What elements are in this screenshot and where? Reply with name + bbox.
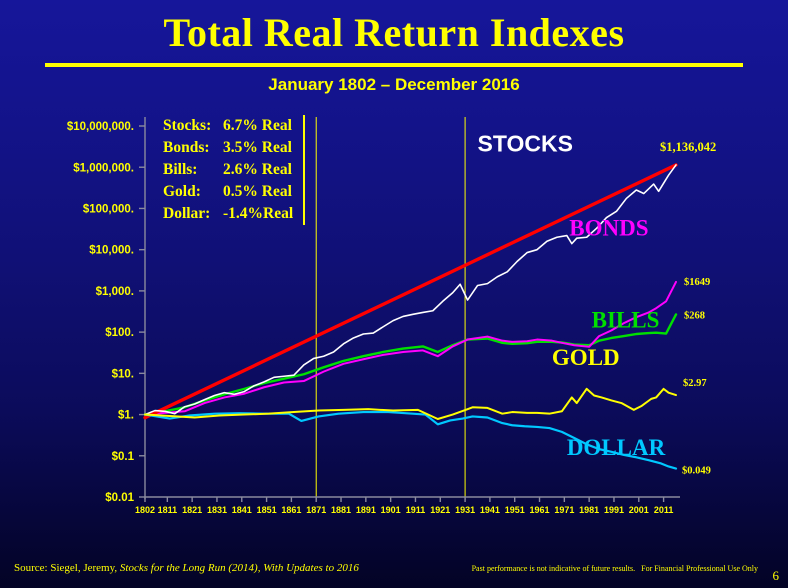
stats-row-label: Bonds:: [163, 137, 223, 159]
x-axis-tick-label: 1891: [356, 505, 376, 515]
x-axis-tick-label: 1931: [455, 505, 475, 515]
x-axis-tick-label: 1911: [406, 505, 426, 515]
y-axis-label: $0.01: [105, 492, 134, 504]
stats-legend-box: Stocks:6.7% RealBonds:3.5% RealBills:2.6…: [163, 115, 305, 225]
stats-row-value: -1.4%Real: [223, 203, 293, 225]
stats-row: Bills:2.6% Real: [163, 159, 293, 181]
endpoint-label-bills: $268: [684, 310, 705, 321]
source-prefix: Source: Siegel, Jeremy,: [14, 562, 120, 574]
x-axis-tick-label: 1841: [232, 505, 252, 515]
stats-row-label: Gold:: [163, 181, 223, 203]
stats-row-value: 6.7% Real: [223, 115, 292, 137]
x-axis-tick-label: 1802: [135, 505, 155, 515]
series-annotation-dollar: DOLLAR: [567, 435, 666, 460]
x-axis-tick-label: 1881: [331, 505, 351, 515]
y-axis-label: $10.: [112, 368, 134, 380]
x-axis-tick-label: 1951: [505, 505, 525, 515]
stats-row-label: Dollar:: [163, 203, 223, 225]
y-axis-label: $100.: [105, 327, 134, 339]
x-axis-tick-label: 1991: [604, 505, 624, 515]
y-axis-label: $0.1: [112, 451, 135, 463]
stats-row-value: 0.5% Real: [223, 181, 292, 203]
endpoint-label-dollar: $0.049: [682, 466, 711, 477]
x-axis-tick-label: 1821: [182, 505, 202, 515]
y-axis-label: $10,000.: [89, 245, 134, 257]
stats-row: Dollar:-1.4%Real: [163, 203, 293, 225]
endpoint-label-gold: $2.97: [683, 378, 707, 389]
x-axis-tick-label: 1861: [281, 505, 301, 515]
x-axis-tick-label: 2001: [629, 505, 649, 515]
x-axis-tick-label: 1961: [530, 505, 550, 515]
x-axis-tick-label: 1851: [257, 505, 277, 515]
series-annotation-bonds: BONDS: [569, 216, 648, 241]
stats-row-label: Stocks:: [163, 115, 223, 137]
y-axis-label: $1,000,000.: [73, 162, 134, 174]
endpoint-label-stocks: $1,136,042: [660, 140, 716, 154]
stats-row: Stocks:6.7% Real: [163, 115, 293, 137]
source-citation: Source: Siegel, Jeremy, Stocks for the L…: [14, 562, 359, 574]
y-axis-label: $100,000.: [83, 203, 134, 215]
series-annotation-bills: BILLS: [592, 307, 660, 332]
y-axis-label: $10,000,000.: [67, 121, 134, 133]
stats-row: Bonds:3.5% Real: [163, 137, 293, 159]
stats-row-value: 2.6% Real: [223, 159, 292, 181]
page-number: 6: [773, 568, 780, 584]
series-annotation-stocks: STOCKS: [477, 131, 572, 157]
x-axis-tick-label: 1871: [306, 505, 326, 515]
x-axis-tick-label: 1921: [430, 505, 450, 515]
endpoint-label-bonds: $1649: [684, 277, 710, 288]
disclaimer-text: Past performance is not indicative of fu…: [472, 564, 758, 573]
x-axis-tick-label: 1971: [554, 505, 574, 515]
x-axis-tick-label: 1901: [381, 505, 401, 515]
slide-canvas: Total Real Return Indexes January 1802 –…: [0, 0, 788, 588]
x-axis-tick-label: 1811: [158, 505, 178, 515]
y-axis-label: $1.: [118, 410, 134, 422]
y-axis-label: $1,000.: [96, 286, 134, 298]
x-axis-tick-label: 1981: [579, 505, 599, 515]
stats-row-value: 3.5% Real: [223, 137, 292, 159]
stats-row: Gold:0.5% Real: [163, 181, 293, 203]
stats-row-label: Bills:: [163, 159, 223, 181]
series-annotation-gold: GOLD: [552, 345, 620, 370]
x-axis-tick-label: 1941: [480, 505, 500, 515]
source-title: Stocks for the Long Run (2014), With Upd…: [120, 562, 359, 574]
x-axis-tick-label: 1831: [207, 505, 227, 515]
x-axis-tick-label: 2011: [654, 505, 674, 515]
chart-canvas: $10,000,000.$1,000,000.$100,000.$10,000.…: [0, 0, 788, 588]
